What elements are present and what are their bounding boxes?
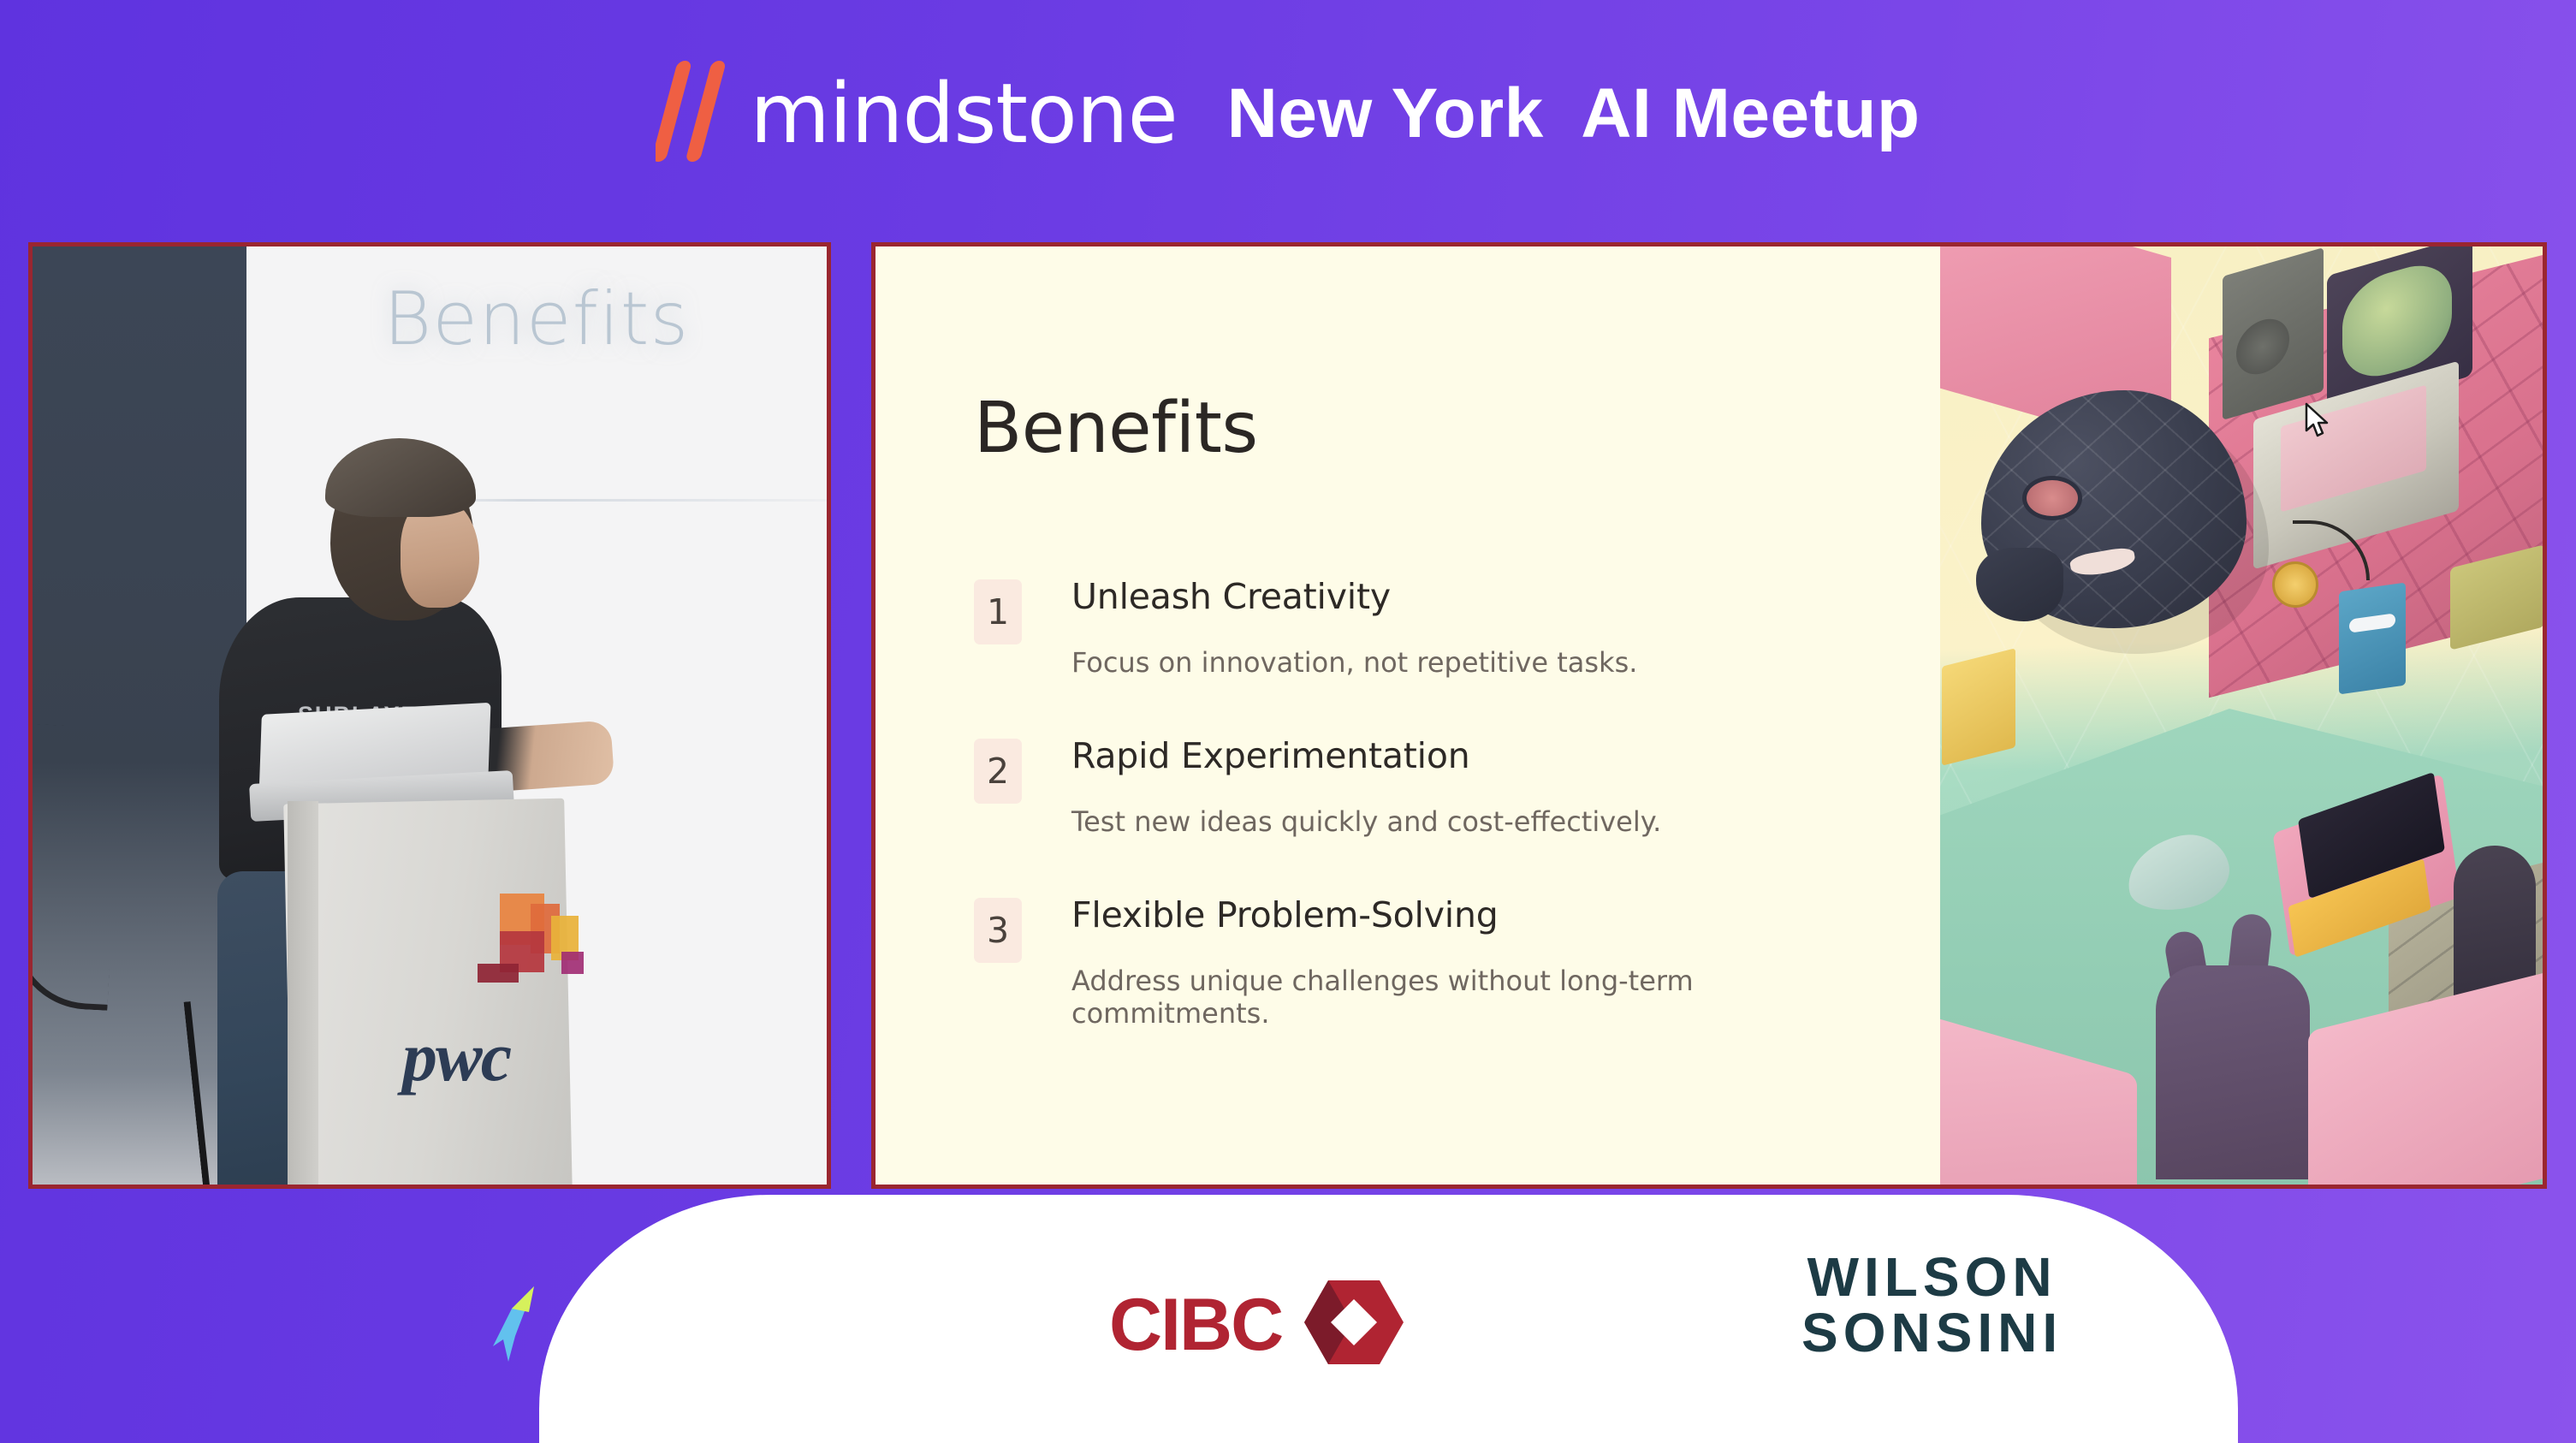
anote-label: Anote [558,1297,703,1357]
wilson-line-2: SONSINI [1801,1305,2063,1361]
illustration-yellow-crate [1942,648,2015,765]
slide-text-column: Benefits 1 Unleash Creativity Focus on i… [875,246,1945,1185]
speaker-camera-feed[interactable]: Benefits SUBLAYER pwc [28,242,831,1189]
illustration-coral-hand [2156,965,2310,1179]
sponsor-anote[interactable]: Anote [486,1283,703,1369]
pwc-wordmark: pwc [402,1017,510,1097]
mouse-cursor-icon [2305,402,2334,444]
benefit-heading: Flexible Problem-Solving [1071,894,1881,935]
benefit-heading: Rapid Experimentation [1071,735,1881,776]
stage-cable [28,723,122,1011]
podium-edge [288,801,318,1189]
benefit-subtext: Focus on innovation, not repetitive task… [1071,646,1881,679]
brand-wordmark: mindstone [750,73,1177,155]
cibc-diamond-icon [1303,1277,1405,1372]
illustration-creature-eye [2022,476,2082,520]
illustration-coin [2272,561,2318,608]
isometric-retro-tech-illustration [1940,246,2543,1185]
benefit-subtext: Address unique challenges without long-t… [1071,965,1881,1030]
benefit-subtext: Test new ideas quickly and cost-effectiv… [1071,805,1881,838]
header-bar: mindstone New York AI Meetup [0,0,2576,227]
benefit-item: 3 Flexible Problem-Solving Address uniqu… [974,894,1881,1030]
wilson-line-1: WILSON [1801,1250,2063,1305]
benefit-number-badge: 2 [974,739,1022,804]
illustration-blue-robot [2339,583,2406,695]
sponsor-wilson-sonsini[interactable]: WILSON SONSINI [1801,1250,2063,1362]
mindstone-brand-lockup: mindstone [656,61,1177,166]
presenter-hair [325,438,476,517]
benefit-number-badge: 3 [974,898,1022,963]
presentation-slide[interactable]: Benefits 1 Unleash Creativity Focus on i… [871,242,2547,1189]
benefit-list: 1 Unleash Creativity Focus on innovation… [974,576,1881,1086]
double-slash-icon [656,61,733,166]
benefit-number-badge: 1 [974,579,1022,644]
projected-slide-title: Benefits [383,276,689,362]
benefit-item: 2 Rapid Experimentation Test new ideas q… [974,735,1881,838]
sponsor-cibc[interactable]: CIBC [1109,1277,1405,1372]
benefit-item: 1 Unleash Creativity Focus on innovation… [974,576,1881,679]
anote-rocket-icon [486,1283,539,1369]
cibc-label: CIBC [1109,1288,1282,1362]
slide-title: Benefits [974,388,1258,469]
pwc-stacked-bars-icon [478,888,580,1004]
event-title: New York AI Meetup [1227,79,1920,149]
benefit-heading: Unleash Creativity [1071,576,1881,617]
stage-backdrop: Benefits SUBLAYER pwc [33,246,827,1185]
